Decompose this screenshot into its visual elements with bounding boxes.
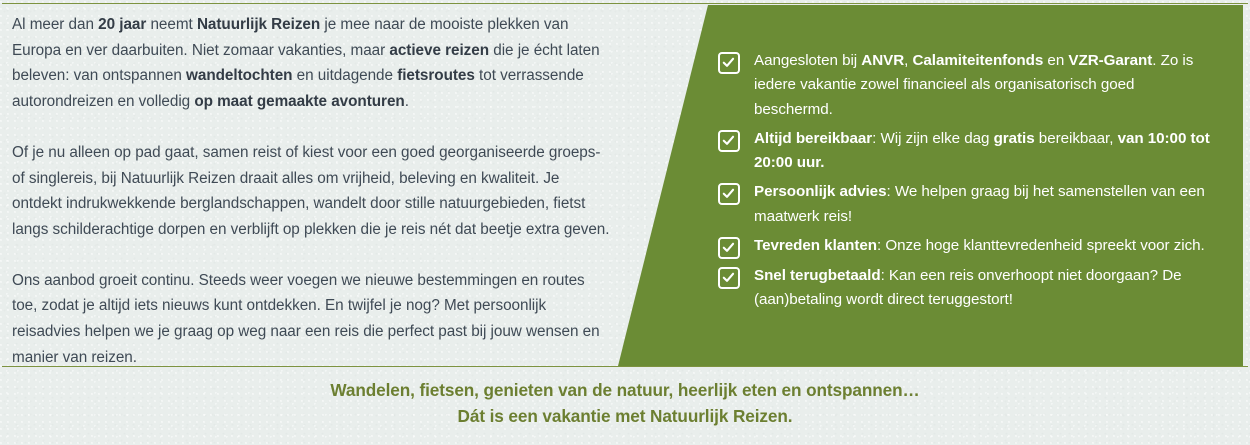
checkbox-checked-icon xyxy=(718,267,740,289)
plain-text: bereikbaar, xyxy=(1035,130,1118,147)
emphasis-text: gratis xyxy=(994,130,1035,147)
checkbox-checked-icon xyxy=(718,237,740,259)
usp-item: Altijd bereikbaar: Wij zijn elke dag gra… xyxy=(718,127,1210,176)
plain-text: Ons aanbod groeit continu. Steeds weer v… xyxy=(12,272,600,366)
usp-panel: Aangesloten bij ANVR, Calamiteitenfonds … xyxy=(618,5,1243,366)
emphasis-text: Snel terugbetaald xyxy=(754,267,881,284)
emphasis-text: Natuurlijk Reizen xyxy=(197,16,320,33)
usp-item-text: Persoonlijk advies: We helpen graag bij … xyxy=(754,180,1210,229)
plain-text: en uitdagende xyxy=(292,67,397,84)
emphasis-text: Altijd bereikbaar xyxy=(754,130,872,147)
intro-paragraph: Of je nu alleen op pad gaat, samen reist… xyxy=(12,140,612,243)
promo-banner: Al meer dan 20 jaar neemt Natuurlijk Rei… xyxy=(0,0,1250,445)
usp-item: Persoonlijk advies: We helpen graag bij … xyxy=(718,180,1210,229)
intro-paragraph: Al meer dan 20 jaar neemt Natuurlijk Rei… xyxy=(12,12,612,115)
plain-text: Of je nu alleen op pad gaat, samen reist… xyxy=(12,144,609,238)
emphasis-text: Tevreden klanten xyxy=(754,237,877,254)
emphasis-text: ANVR xyxy=(861,52,904,69)
emphasis-text: Calamiteitenfonds xyxy=(912,52,1043,69)
content-panels: Al meer dan 20 jaar neemt Natuurlijk Rei… xyxy=(0,5,1250,366)
plain-text: neemt xyxy=(146,16,197,33)
plain-text: : Wij zijn elke dag xyxy=(872,130,993,147)
top-divider xyxy=(2,3,1248,4)
intro-text-column: Al meer dan 20 jaar neemt Natuurlijk Rei… xyxy=(12,12,612,370)
emphasis-text: VZR-Garant xyxy=(1068,52,1152,69)
usp-item-text: Snel terugbetaald: Kan een reis onverhoo… xyxy=(754,264,1210,313)
usp-list: Aangesloten bij ANVR, Calamiteitenfonds … xyxy=(718,49,1210,313)
emphasis-text: Persoonlijk advies xyxy=(754,183,886,200)
footer-line-2: Dát is een vakantie met Natuurlijk Reize… xyxy=(0,403,1250,429)
checkbox-checked-icon xyxy=(718,52,740,74)
plain-text: : Onze hoge klanttevredenheid spreekt vo… xyxy=(877,237,1205,254)
emphasis-text: wandeltochten xyxy=(186,67,292,84)
usp-item: Snel terugbetaald: Kan een reis onverhoo… xyxy=(718,264,1210,313)
checkbox-checked-icon xyxy=(718,183,740,205)
emphasis-text: 20 jaar xyxy=(98,16,146,33)
plain-text: Aangesloten bij xyxy=(754,52,861,69)
intro-paragraph: Ons aanbod groeit continu. Steeds weer v… xyxy=(12,268,612,371)
emphasis-text: fietsroutes xyxy=(397,67,475,84)
usp-item-text: Tevreden klanten: Onze hoge klanttevrede… xyxy=(754,234,1205,258)
plain-text: en xyxy=(1043,52,1068,69)
footer-divider xyxy=(2,366,1248,367)
emphasis-text: op maat gemaakte avonturen xyxy=(194,93,404,110)
usp-item-text: Altijd bereikbaar: Wij zijn elke dag gra… xyxy=(754,127,1210,176)
emphasis-text: actieve reizen xyxy=(389,42,489,59)
usp-item: Tevreden klanten: Onze hoge klanttevrede… xyxy=(718,234,1210,259)
checkbox-checked-icon xyxy=(718,130,740,152)
usp-item: Aangesloten bij ANVR, Calamiteitenfonds … xyxy=(718,49,1210,122)
plain-text: Al meer dan xyxy=(12,16,98,33)
plain-text: . xyxy=(405,93,409,110)
usp-item-text: Aangesloten bij ANVR, Calamiteitenfonds … xyxy=(754,49,1210,122)
footer-line-1: Wandelen, fietsen, genieten van de natuu… xyxy=(0,377,1250,403)
footer-tagline: Wandelen, fietsen, genieten van de natuu… xyxy=(0,377,1250,429)
